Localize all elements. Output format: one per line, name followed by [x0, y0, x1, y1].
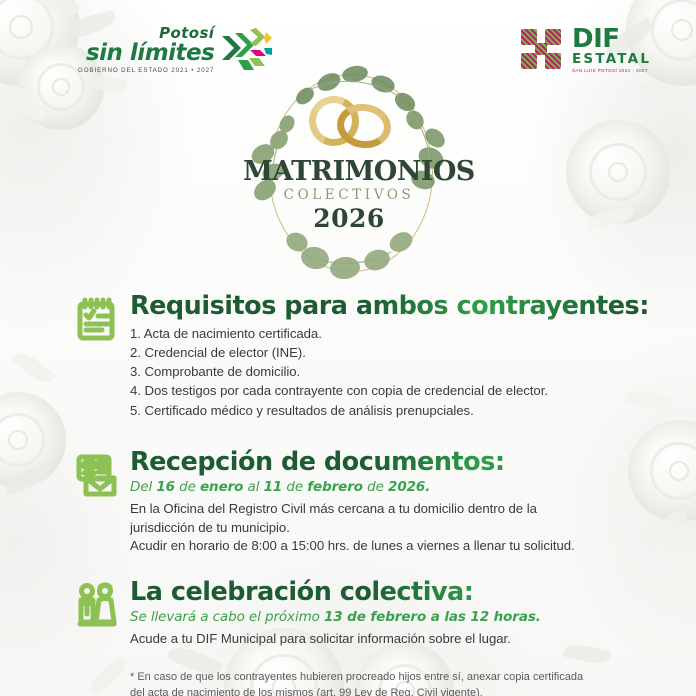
accent-part-bold: 2026.	[388, 479, 430, 495]
recepcion-body: En la Oficina del Registro Civil más cer…	[130, 500, 696, 556]
section-heading-recepcion: Recepción de documentos:	[130, 448, 696, 476]
content-area: Requisitos para ambos contrayentes: 1. A…	[0, 292, 696, 696]
footnote: * En caso de que los contrayentes hubier…	[0, 669, 696, 696]
footnote-line: * En caso de que los contrayentes hubier…	[130, 669, 636, 686]
emblem-title-block: MATRIMONIOS COLECTIVOS 2026	[243, 158, 455, 231]
body-line: jurisdicción de tu municipio.	[130, 519, 696, 538]
poster-root: Potosí sin límites GOBIERNO DEL ESTADO 2…	[0, 0, 696, 696]
requisitos-list: 1. Acta de nacimiento certificada. 2. Cr…	[130, 324, 696, 420]
body-line: Acudir en horario de 8:00 a 15:00 hrs. d…	[130, 537, 696, 556]
section-heading-celebracion: La celebración colectiva:	[130, 578, 696, 606]
notepad-checklist-icon	[74, 296, 120, 344]
document-envelope-icon	[74, 452, 120, 500]
accent-part-bold: 13 de febrero a las 12 horas.	[324, 609, 541, 625]
accent-part: de	[363, 479, 388, 495]
dif-cross-pattern-icon	[519, 27, 563, 71]
dif-logo-words: DIF ESTATAL SAN LUIS POTOSÍ 2021 - 2027	[572, 26, 651, 73]
accent-part-bold: enero	[200, 479, 243, 495]
section-heading-requisitos: Requisitos para ambos contrayentes:	[130, 292, 696, 320]
dif-logo-subtitle: SAN LUIS POTOSÍ 2021 - 2027	[572, 69, 651, 73]
accent-part: Se llevará a cabo el próximo	[130, 609, 324, 625]
accent-part: Del	[130, 479, 156, 495]
section-celebracion: La celebración colectiva: Se llevará a c…	[0, 578, 696, 649]
dif-logo-line1: DIF	[572, 26, 651, 52]
accent-part: de	[282, 479, 307, 495]
accent-part: al	[243, 479, 263, 495]
accent-part-bold: 16	[156, 479, 175, 495]
wedding-rings-icon	[299, 96, 403, 152]
emblem-year: 2026	[243, 206, 455, 231]
celebracion-body: Acude a tu DIF Municipal para solicitar …	[130, 630, 696, 649]
section-recepcion: Recepción de documentos: Del 16 de enero…	[0, 448, 696, 556]
potosi-logo-words: Potosí sin límites GOBIERNO DEL ESTADO 2…	[78, 26, 214, 74]
emblem-subtitle: COLECTIVOS	[243, 189, 455, 203]
dif-logo-line2: ESTATAL	[572, 53, 651, 67]
dif-estatal-logo: DIF ESTATAL SAN LUIS POTOSÍ 2021 - 2027	[519, 26, 651, 73]
emblem-title: MATRIMONIOS	[243, 158, 455, 185]
list-item: 3. Comprobante de domicilio.	[130, 362, 696, 381]
recepcion-dates: Del 16 de enero al 11 de febrero de 2026…	[130, 479, 696, 495]
list-item: 4. Dos testigos por cada contrayente con…	[130, 381, 696, 400]
potosi-logo-line2: sin límites	[78, 42, 214, 65]
list-item: 1. Acta de nacimiento certificada.	[130, 324, 696, 343]
body-line: En la Oficina del Registro Civil más cer…	[130, 500, 696, 519]
list-item: 2. Credencial de elector (INE).	[130, 343, 696, 362]
footnote-line: del acta de nacimiento de los mismos (ar…	[130, 685, 636, 696]
accent-part: de	[175, 479, 200, 495]
matrimonios-emblem: MATRIMONIOS COLECTIVOS 2026	[243, 62, 455, 286]
accent-part-bold: 11	[264, 479, 283, 495]
bride-groom-icon	[74, 582, 120, 630]
body-line: Acude a tu DIF Municipal para solicitar …	[130, 630, 696, 649]
potosi-logo-line1: Potosí	[78, 26, 214, 41]
accent-part-bold: febrero	[307, 479, 363, 495]
list-item: 5. Certificado médico y resultados de an…	[130, 401, 696, 420]
potosi-logo-subtitle: GOBIERNO DEL ESTADO 2021 • 2027	[78, 68, 214, 74]
celebracion-date: Se llevará a cabo el próximo 13 de febre…	[130, 609, 696, 625]
section-requisitos: Requisitos para ambos contrayentes: 1. A…	[0, 292, 696, 420]
